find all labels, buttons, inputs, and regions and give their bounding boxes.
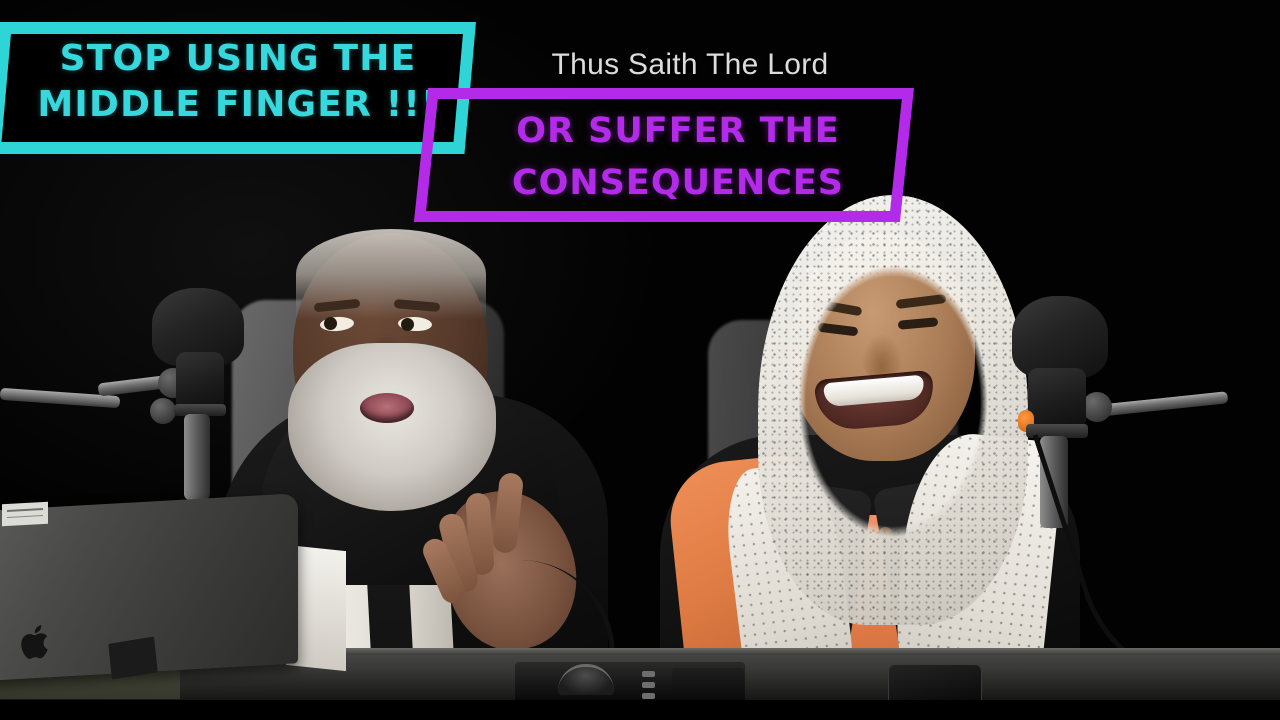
text-overlay-layer: STOP USING THE MIDDLE FINGER !!! OR SUFF… bbox=[0, 0, 1280, 720]
cyan-headline-text: STOP USING THE MIDDLE FINGER !!! bbox=[14, 36, 462, 128]
caption-text: Thus Saith The Lord bbox=[500, 48, 880, 82]
purple-headline-text: OR SUFFER THE CONSEQUENCES bbox=[452, 105, 904, 209]
video-frame: STOP USING THE MIDDLE FINGER !!! OR SUFF… bbox=[0, 0, 1280, 720]
